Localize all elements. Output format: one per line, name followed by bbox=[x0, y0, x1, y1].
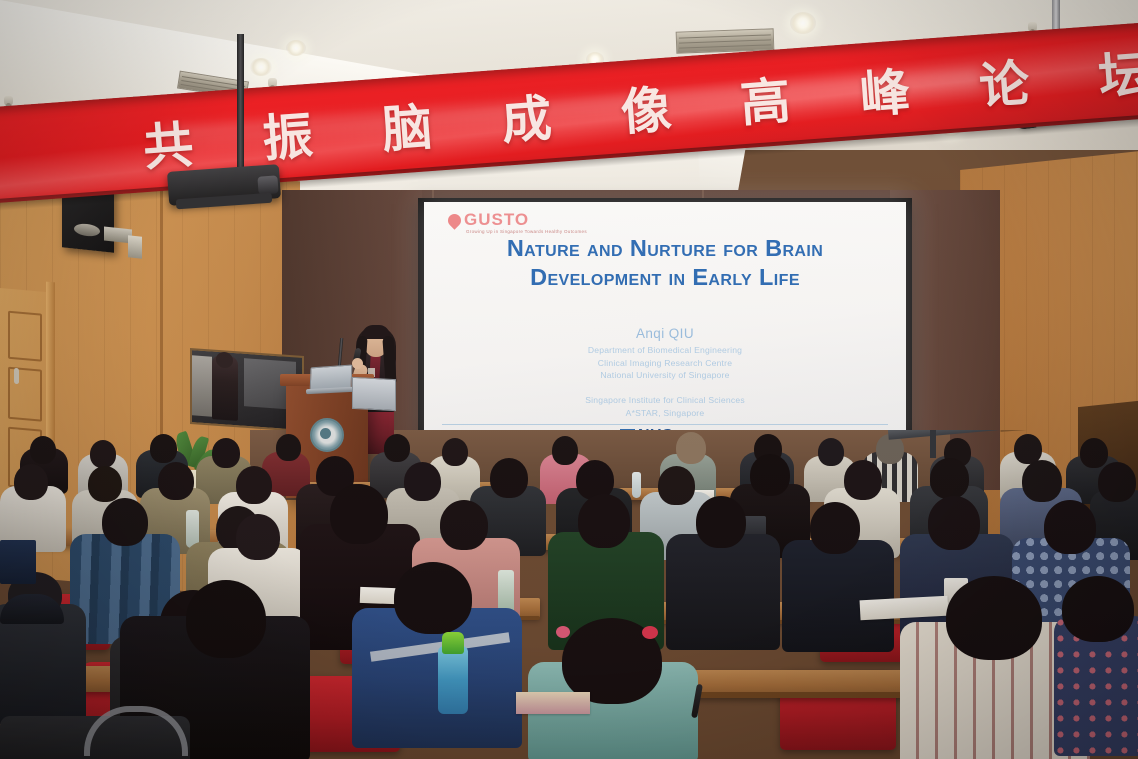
confidence-monitor bbox=[352, 377, 396, 411]
audience-head bbox=[1098, 462, 1136, 502]
audience-head bbox=[88, 466, 122, 502]
audience-head bbox=[1062, 576, 1134, 642]
banner-char: 振 bbox=[260, 96, 317, 172]
bottle-icon bbox=[438, 646, 468, 714]
audience-head bbox=[844, 460, 882, 500]
slide-divider bbox=[442, 424, 888, 425]
audience-head bbox=[394, 562, 472, 634]
affiliation-line: Department of Biomedical Engineering bbox=[454, 344, 876, 357]
audience-head bbox=[276, 434, 301, 461]
audience-head bbox=[696, 496, 746, 548]
table-cart-leg bbox=[930, 430, 936, 458]
audience-head bbox=[658, 466, 695, 505]
window-reflection-person-head bbox=[216, 351, 233, 368]
speaker-bracket bbox=[128, 235, 142, 258]
audience-torso bbox=[782, 540, 894, 652]
audience-torso bbox=[666, 534, 780, 650]
slide-affiliation-secondary: Singapore Institute for Clinical Science… bbox=[454, 394, 876, 419]
presenter-hand bbox=[352, 358, 363, 369]
slide-title-line2: Development in Early Life bbox=[454, 263, 876, 292]
ceiling-downlight bbox=[250, 58, 272, 76]
audience-head bbox=[818, 438, 844, 466]
audience-head bbox=[946, 576, 1042, 660]
audience-head bbox=[490, 458, 528, 498]
audience-head bbox=[578, 494, 630, 548]
affiliation-line: Singapore Institute for Clinical Science… bbox=[454, 394, 876, 407]
audience-head bbox=[928, 496, 980, 550]
audience-head bbox=[552, 436, 578, 465]
affiliation-line: A*STAR, Singapore bbox=[454, 407, 876, 420]
audience-head bbox=[1022, 460, 1062, 502]
affiliation-line: National University of Singapore bbox=[454, 369, 876, 382]
banner-char: 高 bbox=[738, 61, 795, 137]
audience-head bbox=[236, 466, 272, 504]
audience-head bbox=[14, 464, 48, 500]
gusto-mark-icon bbox=[445, 211, 463, 229]
audience-head bbox=[404, 462, 441, 501]
banner-char: 像 bbox=[618, 69, 675, 145]
audience-area bbox=[0, 430, 1138, 759]
door-panel bbox=[8, 311, 42, 362]
gusto-logo-text: GUSTO bbox=[464, 210, 529, 230]
audience-head bbox=[186, 580, 266, 658]
projector-lens bbox=[257, 175, 278, 194]
audience-head bbox=[212, 438, 240, 468]
lecture-hall-photo: 共 振 脑 成 像 高 峰 论 坛 GUSTO Growing Up in Si… bbox=[0, 0, 1138, 759]
audience-head bbox=[1080, 438, 1108, 468]
banner-char: 成 bbox=[499, 78, 556, 154]
slide-title: Nature and Nurture for Brain Development… bbox=[454, 234, 876, 291]
bottle-cap-icon bbox=[442, 632, 464, 654]
audience-head bbox=[810, 502, 860, 554]
audience-head bbox=[30, 436, 56, 464]
hair-clip-icon bbox=[642, 626, 658, 639]
slide-affiliation-primary: Department of Biomedical Engineering Cli… bbox=[454, 344, 876, 382]
hair-clip-icon bbox=[556, 626, 570, 638]
ceiling-downlight bbox=[286, 40, 306, 56]
projection-screen: GUSTO Growing Up in Singapore Towards He… bbox=[424, 202, 906, 442]
audience-head bbox=[236, 514, 280, 560]
banner-char: 脑 bbox=[379, 87, 436, 163]
slide-author: Anqi QIU bbox=[454, 326, 876, 341]
laptop-icon bbox=[0, 540, 36, 584]
banner-char: 共 bbox=[140, 104, 197, 180]
banner-char: 峰 bbox=[857, 52, 914, 128]
audience-head bbox=[330, 484, 388, 544]
table-cart-top bbox=[1000, 430, 1111, 432]
door-handle-icon[interactable] bbox=[14, 368, 19, 384]
audience-head bbox=[158, 462, 194, 500]
audience-head bbox=[442, 438, 468, 466]
notebook bbox=[516, 692, 590, 714]
bottle-icon bbox=[632, 472, 641, 498]
audience-head bbox=[440, 500, 488, 550]
slide-title-line1: Nature and Nurture for Brain bbox=[454, 234, 876, 263]
banner-char: 坛 bbox=[1096, 34, 1138, 110]
audience-head bbox=[750, 454, 790, 496]
audience-head bbox=[1044, 500, 1096, 554]
ceiling-downlight bbox=[790, 12, 816, 34]
audience-head bbox=[384, 434, 410, 462]
audience-head bbox=[150, 434, 177, 463]
audience-head bbox=[930, 458, 969, 499]
projector-mount-pole-left bbox=[237, 34, 244, 184]
affiliation-line: Clinical Imaging Research Centre bbox=[454, 357, 876, 370]
audience-head bbox=[90, 440, 116, 468]
banner-char: 论 bbox=[976, 43, 1033, 119]
audience-head bbox=[102, 498, 148, 546]
window-reflection-light bbox=[192, 355, 212, 416]
audience-head bbox=[676, 432, 706, 464]
